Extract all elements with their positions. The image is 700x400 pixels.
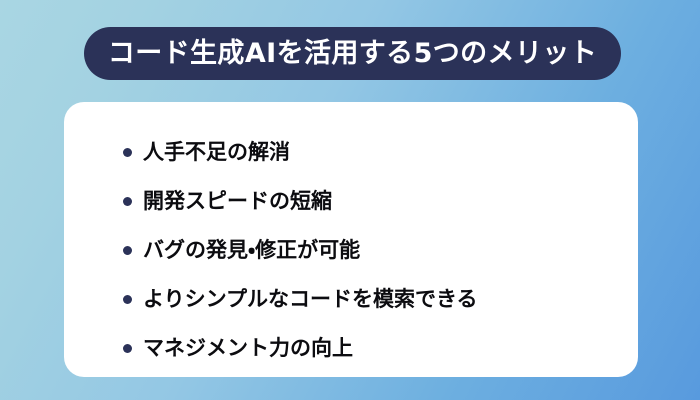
list-item-label: よりシンプルなコードを模索できる — [143, 289, 478, 310]
list-item: マネジメント力の向上 — [64, 324, 638, 373]
benefits-list: 人手不足の解消 開発スピードの短縮 バグの発見・修正が可能 よりシンプルなコード… — [64, 102, 638, 373]
list-item-label: マネジメント力の向上 — [143, 338, 353, 359]
benefits-card: 人手不足の解消 開発スピードの短縮 バグの発見・修正が可能 よりシンプルなコード… — [64, 102, 638, 377]
slide-canvas: コード生成AIを活用する5つのメリット 人手不足の解消 開発スピードの短縮 バグ… — [0, 0, 700, 400]
bullet-dot-icon — [123, 344, 132, 353]
list-item: 人手不足の解消 — [64, 128, 638, 177]
bullet-dot-icon — [123, 197, 132, 206]
list-item-label: 人手不足の解消 — [143, 142, 290, 163]
title-banner: コード生成AIを活用する5つのメリット — [84, 27, 621, 80]
bullet-dot-icon — [123, 246, 132, 255]
list-item-label: バグの発見・修正が可能 — [143, 240, 360, 261]
list-item: よりシンプルなコードを模索できる — [64, 275, 638, 324]
list-item-label: 開発スピードの短縮 — [143, 191, 332, 212]
bullet-dot-icon — [123, 148, 132, 157]
list-item: バグの発見・修正が可能 — [64, 226, 638, 275]
list-item: 開発スピードの短縮 — [64, 177, 638, 226]
bullet-dot-icon — [123, 295, 132, 304]
page-title: コード生成AIを活用する5つのメリット — [108, 40, 597, 67]
